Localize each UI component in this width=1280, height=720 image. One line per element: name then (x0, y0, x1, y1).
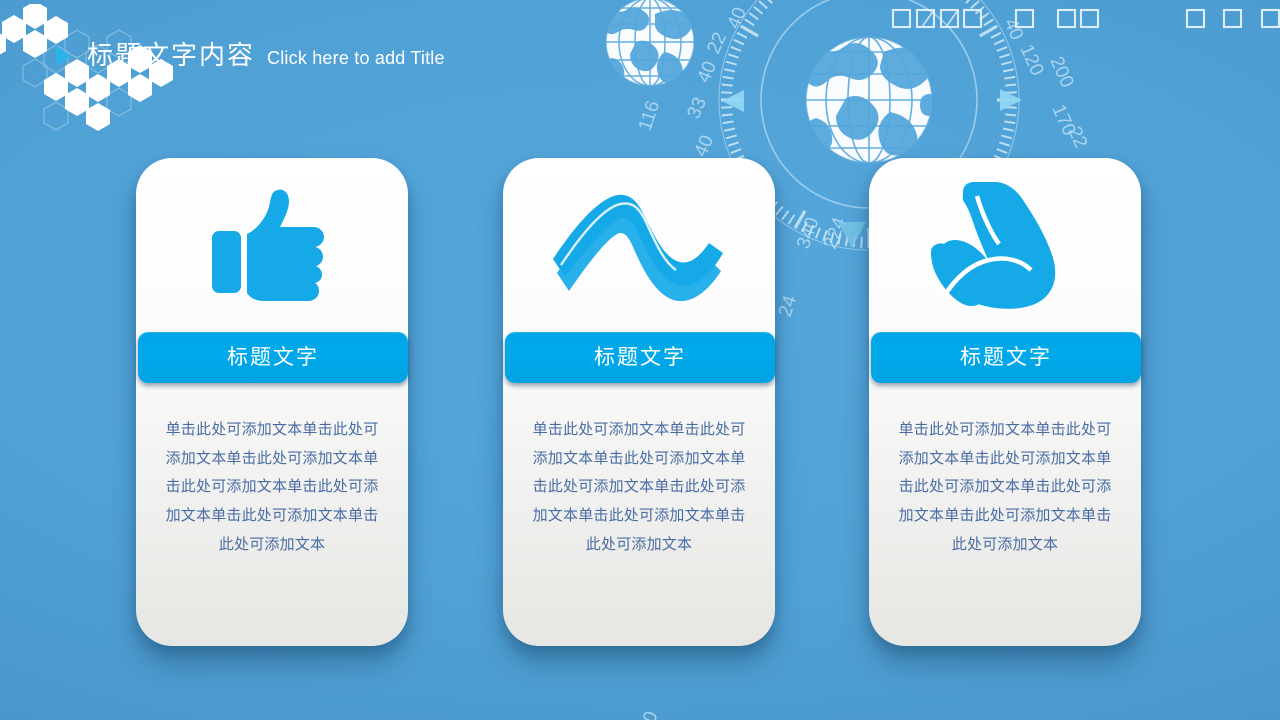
card-body-text: 单击此处可添加文本单击此处可添加文本单击此处可添加文本单击此处可添加文本单击此处… (893, 416, 1117, 560)
card-heading-label: 标题文字 (227, 347, 319, 368)
content-card[interactable]: 标题文字 单击此处可添加文本单击此处可添加文本单击此处可添加文本单击此处可添加文… (503, 158, 775, 646)
flexed-bicep-icon (869, 168, 1141, 323)
card-heading-label: 标题文字 (960, 347, 1052, 368)
content-card[interactable]: 标题文字 单击此处可添加文本单击此处可添加文本单击此处可添加文本单击此处可添加文… (136, 158, 408, 646)
slide-canvas: 40 22 40 33 116 40 340 224 24 40 120 200… (0, 0, 1280, 720)
content-card[interactable]: 标题文字 单击此处可添加文本单击此处可添加文本单击此处可添加文本单击此处可添加文… (869, 158, 1141, 646)
card-heading-bar[interactable]: 标题文字 (505, 332, 775, 383)
wave-ribbon-icon (503, 168, 775, 323)
thumbs-up-icon (136, 168, 408, 323)
cards-container: 标题文字 单击此处可添加文本单击此处可添加文本单击此处可添加文本单击此处可添加文… (0, 0, 1280, 720)
card-heading-bar[interactable]: 标题文字 (138, 332, 408, 383)
card-heading-label: 标题文字 (594, 347, 686, 368)
card-body-text: 单击此处可添加文本单击此处可添加文本单击此处可添加文本单击此处可添加文本单击此处… (527, 416, 751, 560)
card-body-text: 单击此处可添加文本单击此处可添加文本单击此处可添加文本单击此处可添加文本单击此处… (160, 416, 384, 560)
card-heading-bar[interactable]: 标题文字 (871, 332, 1141, 383)
